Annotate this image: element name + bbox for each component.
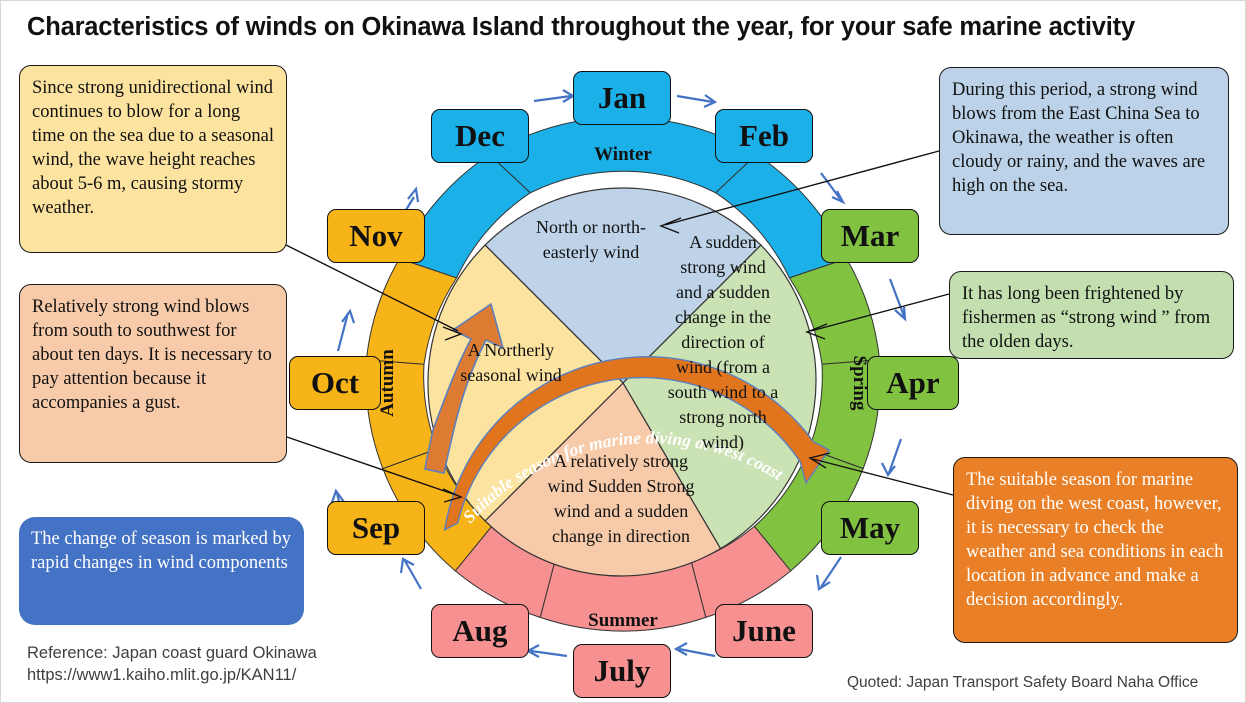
flow-arrow-dec-jan: [534, 90, 573, 102]
flow-arrow-may-june: [817, 557, 841, 589]
flow-arrow-june-july: [676, 643, 715, 656]
svg-text:wind): wind): [702, 432, 744, 453]
svg-text:change in direction: change in direction: [552, 526, 690, 546]
flow-arrow-oct-nov: [338, 311, 354, 351]
svg-text:A Northerly: A Northerly: [468, 340, 554, 360]
callout-diving-season: The suitable season for marine diving on…: [953, 457, 1238, 643]
svg-text:wind Sudden Strong: wind Sudden Strong: [547, 476, 694, 496]
month-box-june[interactable]: June: [715, 604, 813, 658]
inner-text-spring: A sudden strong wind and a sudden change…: [668, 232, 779, 453]
month-box-july[interactable]: July: [573, 644, 671, 698]
callout-east-china-sea: During this period, a strong wind blows …: [939, 67, 1229, 235]
infographic-page: Characteristics of winds on Okinawa Isla…: [0, 0, 1246, 703]
season-label-winter: Winter: [594, 144, 652, 165]
reference-url[interactable]: https://www1.kaiho.mlit.go.jp/KAN11/: [27, 664, 447, 686]
svg-text:and a sudden: and a sudden: [676, 282, 770, 302]
callout-season-change: The change of season is marked by rapid …: [19, 517, 304, 625]
svg-text:strong north: strong north: [679, 407, 767, 427]
month-box-jan[interactable]: Jan: [573, 71, 671, 125]
svg-text:easterly wind: easterly wind: [543, 242, 639, 262]
month-box-apr[interactable]: Apr: [867, 356, 959, 410]
svg-text:A sudden: A sudden: [689, 232, 757, 252]
svg-text:south wind to a: south wind to a: [668, 382, 779, 402]
reference-block: Reference: Japan coast guard Okinawa htt…: [27, 642, 447, 687]
flow-arrow-july-aug: [528, 645, 567, 657]
svg-text:direction of: direction of: [681, 332, 764, 352]
month-box-mar[interactable]: Mar: [821, 209, 919, 263]
flow-arrow-jan-feb: [677, 95, 715, 107]
svg-text:seasonal wind: seasonal wind: [460, 365, 561, 385]
flow-arrow-aug-sep: [401, 559, 421, 589]
month-box-feb[interactable]: Feb: [715, 109, 813, 163]
flow-arrow-apr-may: [882, 439, 901, 475]
month-box-sep[interactable]: Sep: [327, 501, 425, 555]
season-label-summer: Summer: [588, 610, 658, 631]
svg-text:change in the: change in the: [675, 307, 771, 327]
callout-fishermen-strong-wind: It has long been frightened by fishermen…: [949, 271, 1234, 359]
callout-winter-wave-height: Since strong unidirectional wind continu…: [19, 65, 287, 253]
callout-autumn-gust: Relatively strong wind blows from south …: [19, 284, 287, 463]
svg-text:strong wind: strong wind: [680, 257, 766, 277]
month-box-dec[interactable]: Dec: [431, 109, 529, 163]
flow-arrow-mar-apr: [890, 279, 905, 319]
svg-text:North or north-: North or north-: [536, 217, 646, 237]
month-box-nov[interactable]: Nov: [327, 209, 425, 263]
svg-text:wind (from a: wind (from a: [676, 357, 770, 378]
reference-line-1: Reference: Japan coast guard Okinawa: [27, 642, 447, 664]
month-box-may[interactable]: May: [821, 501, 919, 555]
quoted-source: Quoted: Japan Transport Safety Board Nah…: [847, 674, 1198, 692]
svg-text:A relatively strong: A relatively strong: [554, 451, 688, 471]
svg-text:wind and a sudden: wind and a sudden: [554, 501, 688, 521]
month-box-oct[interactable]: Oct: [289, 356, 381, 410]
